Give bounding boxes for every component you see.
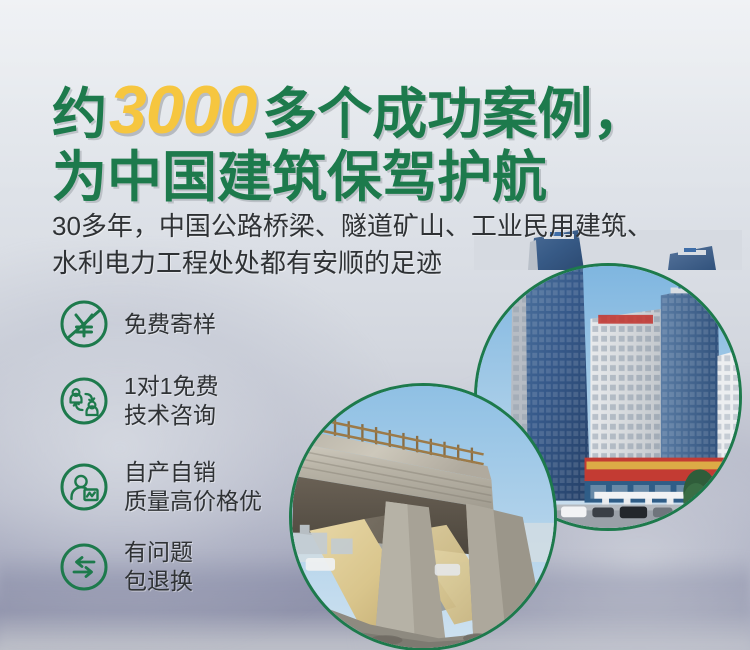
headline-suffix: 多个成功案例， xyxy=(262,83,647,145)
feature-label: 自产自销 质量高价格优 xyxy=(124,458,262,516)
subtitle: 30多年，中国公路桥梁、隧道矿山、工业民用建筑、 水利电力工程处处都有安顺的足迹 xyxy=(52,208,722,282)
headline-line-2: 为中国建筑保驾护航 xyxy=(52,149,712,205)
feature-item-free-sample: 免费寄样 xyxy=(58,296,262,352)
bridge-photo xyxy=(289,383,557,650)
feature-list: 免费寄样 1对1免费 xyxy=(58,296,262,618)
subtitle-line-2: 水利电力工程处处都有安顺的足迹 xyxy=(52,245,722,282)
headline-line-1: 约3000多个成功案例， xyxy=(52,76,712,145)
subtitle-line-1: 30多年，中国公路桥梁、隧道矿山、工业民用建筑、 xyxy=(52,208,722,245)
self-produced-quality-icon xyxy=(58,461,110,513)
feature-label: 有问题 包退换 xyxy=(124,538,193,596)
feature-label: 1对1免费 技术咨询 xyxy=(124,372,219,430)
feature-item-quality: 自产自销 质量高价格优 xyxy=(58,458,262,516)
feature-item-consult: 1对1免费 技术咨询 xyxy=(58,372,262,430)
free-sample-icon xyxy=(58,298,110,350)
feature-label: 免费寄样 xyxy=(124,310,216,339)
return-exchange-icon xyxy=(58,541,110,593)
headline-prefix: 约 xyxy=(52,83,107,145)
one-on-one-consult-icon xyxy=(58,375,110,427)
promo-banner: 约3000多个成功案例， 为中国建筑保驾护航 30多年，中国公路桥梁、隧道矿山、… xyxy=(0,0,750,650)
headline: 约3000多个成功案例， 为中国建筑保驾护航 xyxy=(52,76,712,205)
headline-number: 3000 xyxy=(107,72,262,148)
feature-item-return: 有问题 包退换 xyxy=(58,538,262,596)
